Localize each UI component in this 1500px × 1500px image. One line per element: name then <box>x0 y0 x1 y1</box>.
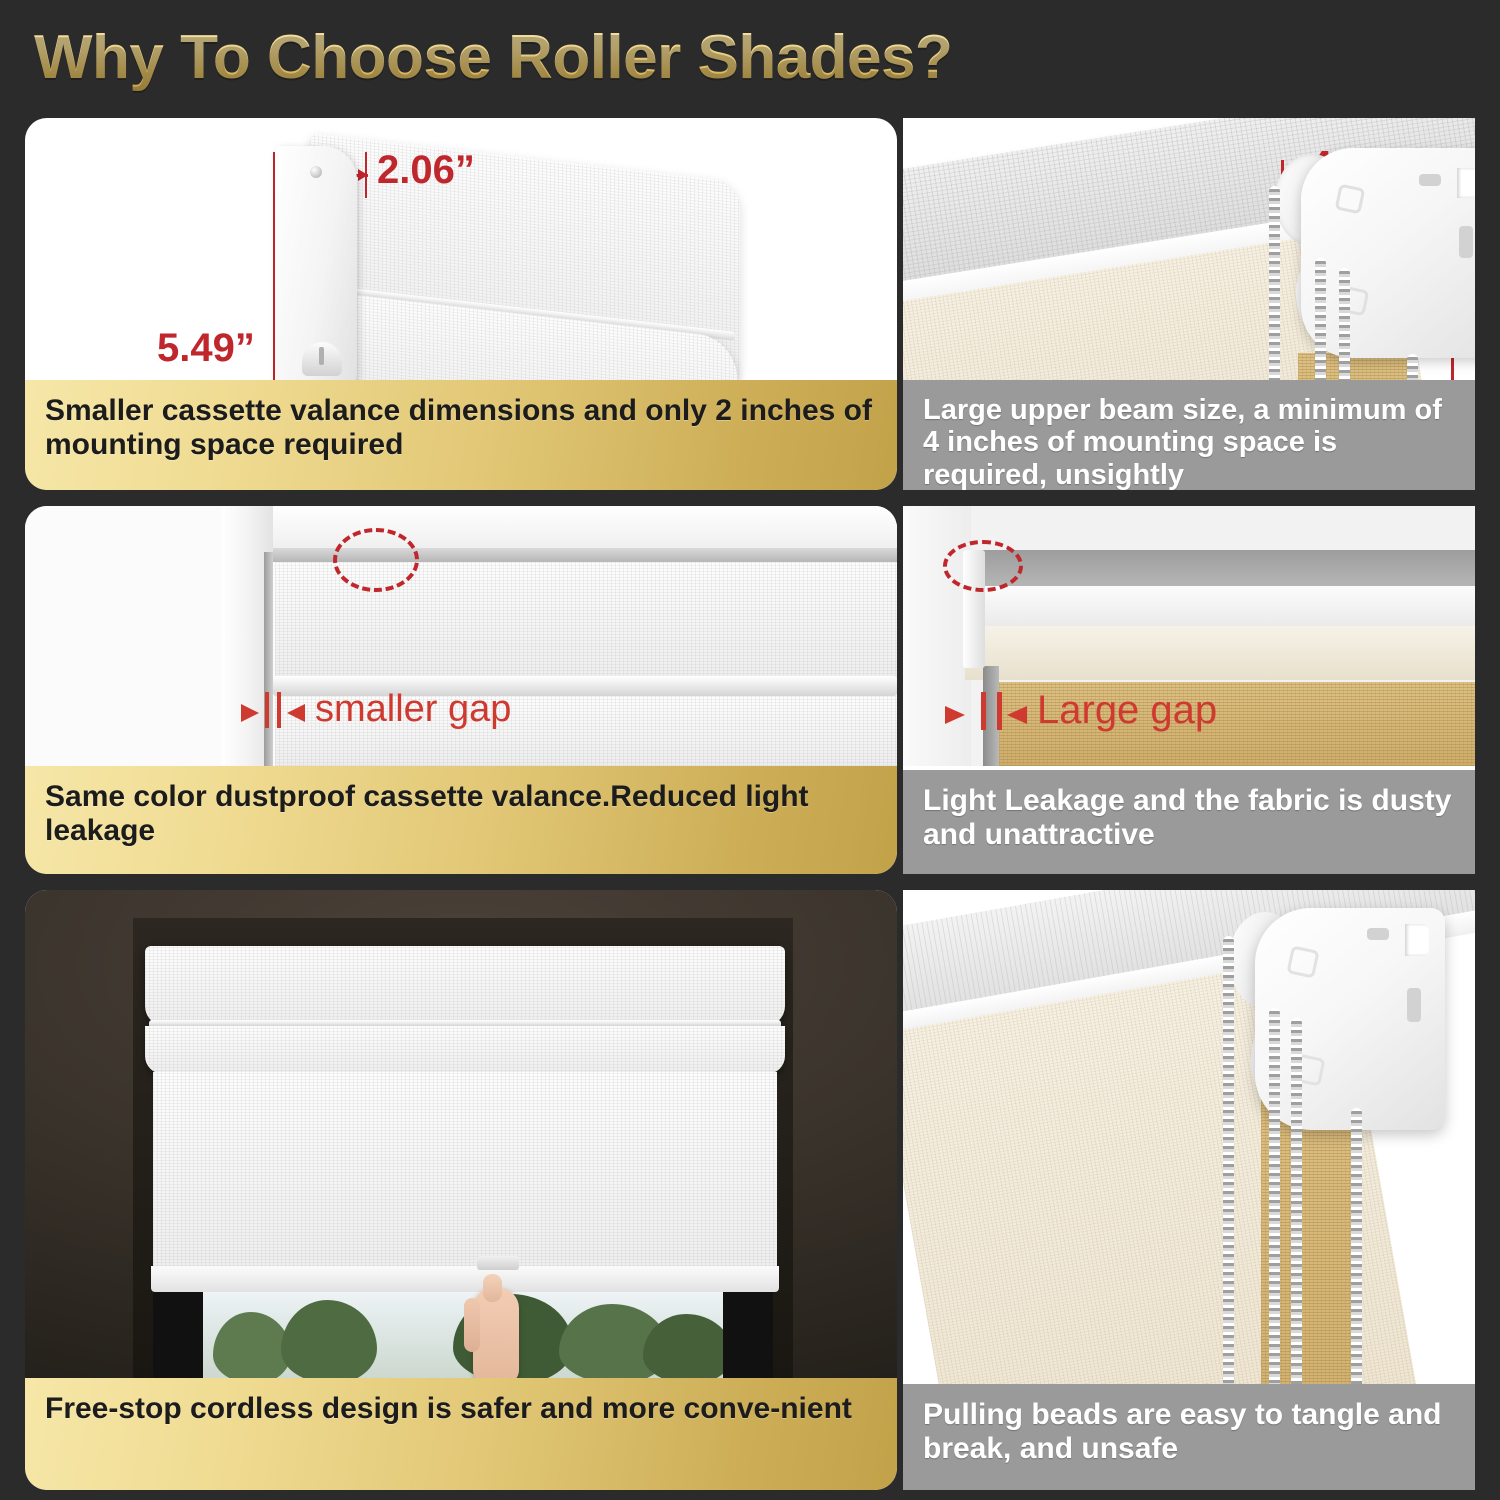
panel-light-leakage: Large gap Light Leakage and the fabric i… <box>903 506 1475 874</box>
gap-arrow-right <box>1007 706 1027 724</box>
gap-arrow-left <box>241 704 259 722</box>
gap-tick-1 <box>265 692 269 728</box>
panel-free-stop-cordless: Free-stop cordless design is safer and m… <box>25 890 897 1490</box>
window-frame-top <box>221 506 897 550</box>
dimension-label-height: 5.49” <box>157 326 255 371</box>
bracket-logo-icon <box>1335 184 1366 215</box>
roller-shade-fabric <box>153 1072 777 1272</box>
highlight-circle-icon <box>333 528 419 592</box>
page-title: Why To Choose Roller Shades? <box>34 22 952 93</box>
upper-beam-gray <box>971 550 1475 590</box>
panel-dustproof-cassette-valance: smaller gap Same color dustproof cassett… <box>25 506 897 874</box>
tree-shape <box>281 1300 377 1378</box>
cassette-valance-upper <box>145 946 785 1026</box>
gap-tick-1 <box>981 692 986 730</box>
bracket-notch-2 <box>1405 924 1429 956</box>
valance-screw-top <box>310 166 322 178</box>
caption-light-leakage: Light Leakage and the fabric is dusty an… <box>903 770 1475 874</box>
gap-arrow-left <box>945 706 965 724</box>
bracket-notch-1 <box>1419 174 1441 186</box>
bracket-logo-icon <box>1286 945 1319 978</box>
caption-free-stop-cordless: Free-stop cordless design is safer and m… <box>25 1378 897 1490</box>
gap-tick-2 <box>277 692 281 728</box>
panel-cassette-valance-dimensions: 2.06” 5.49” Smaller cassette valance dim… <box>25 118 897 490</box>
gap-strip <box>264 552 273 766</box>
highlight-circle-icon <box>943 540 1023 592</box>
panel-large-upper-beam: 4.00” 4.00” Large upper beam size, a min… <box>903 118 1475 490</box>
caption-large-upper-beam: Large upper beam size, a minimum of 4 in… <box>903 380 1475 490</box>
caption-cassette-valance-dimensions: Smaller cassette valance dimensions and … <box>25 380 897 490</box>
dimension-label-width: 2.06” <box>377 148 475 193</box>
window-view-outside <box>203 1292 723 1378</box>
hand-illustration <box>473 1288 519 1384</box>
shade-pull-tab <box>477 1256 519 1270</box>
bracket-slot <box>1459 226 1473 258</box>
beam-cream-face <box>965 626 1475 680</box>
cassette-valance-lower <box>145 1026 785 1074</box>
bracket-notch-1 <box>1367 928 1389 940</box>
mounting-bracket <box>1301 148 1475 358</box>
gap-callout-label: smaller gap <box>315 688 511 731</box>
comparison-grid: 2.06” 5.49” Smaller cassette valance dim… <box>0 110 1500 1500</box>
bracket-notch-2 <box>1457 168 1475 198</box>
tree-shape <box>213 1312 291 1378</box>
mounting-bracket <box>1255 908 1445 1130</box>
bracket-slot <box>1407 988 1421 1022</box>
shade-bottom-rail <box>151 1266 779 1292</box>
dim-width-arrow-right <box>358 169 368 181</box>
gap-arrow-right <box>287 704 305 722</box>
panel-pulling-beads: Pulling beads are easy to tangle and bre… <box>903 890 1475 1490</box>
caption-pulling-beads: Pulling beads are easy to tangle and bre… <box>903 1384 1475 1490</box>
caption-dustproof-cassette-valance: Same color dustproof cassette valance.Re… <box>25 766 897 874</box>
valance-knob <box>302 342 342 376</box>
gap-tick-2 <box>997 692 1002 730</box>
header-bar: Why To Choose Roller Shades? <box>0 0 1500 110</box>
gap-callout-label: Large gap <box>1037 688 1217 733</box>
